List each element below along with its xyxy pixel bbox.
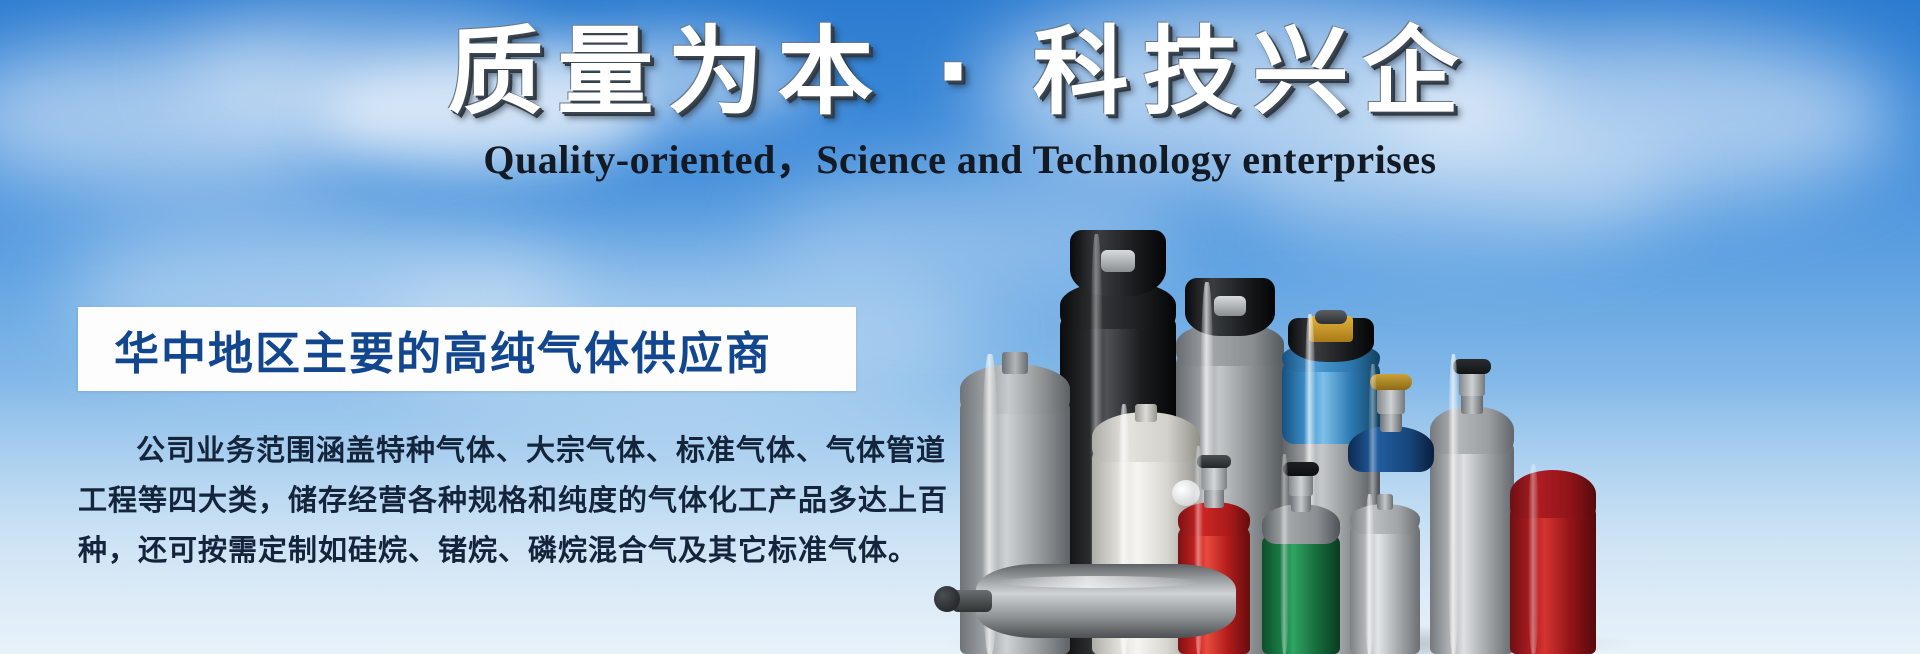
cylinder-body <box>1262 534 1340 654</box>
aluminium-cylinder <box>1430 354 1514 654</box>
cylinder-neck <box>1377 494 1393 510</box>
paragraph-line: 公司业务范围涵盖特种气体、大宗气体、标准气体、气体管道 <box>78 425 868 475</box>
cylinder-valve <box>1377 386 1405 414</box>
paragraph-line: 种，还可按需定制如硅烷、锗烷、磷烷混合气及其它标准气体。 <box>78 525 868 575</box>
cylinder-body <box>1430 440 1514 654</box>
cylinder-body <box>1350 522 1420 654</box>
pressure-gauge <box>1172 480 1200 506</box>
headline-text: 华中地区主要的高纯气体供应商 <box>78 317 772 382</box>
valve-handwheel <box>1197 455 1231 468</box>
cylinder-valve <box>1289 474 1313 496</box>
headline-plate: 华中地区主要的高纯气体供应商 <box>78 307 856 391</box>
lying-gray-cylinder <box>958 564 1248 638</box>
cylinder-body <box>976 564 1236 638</box>
valve-handwheel <box>1283 462 1319 476</box>
description-paragraph: 公司业务范围涵盖特种气体、大宗气体、标准气体、气体管道 工程等四大类，储存经营各… <box>78 425 868 575</box>
red-bottle <box>1510 464 1596 654</box>
cylinder-valve-knob <box>1101 250 1135 272</box>
cylinder-valve-knob <box>1214 296 1246 316</box>
green-small-cylinder <box>1262 454 1340 654</box>
cylinder-shoulder <box>1510 470 1596 518</box>
cylinder-body <box>1510 504 1596 654</box>
cylinder-shoulder <box>1348 426 1434 472</box>
aluminium-small-cylinder <box>1350 494 1420 654</box>
cylinder-neck <box>1002 352 1028 374</box>
paragraph-line: 工程等四大类，储存经营各种规格和纯度的气体化工产品多达上百 <box>78 475 868 525</box>
valve-handwheel <box>1315 310 1347 324</box>
valve-handwheel <box>1370 374 1412 390</box>
gas-cylinder-group <box>930 0 1920 654</box>
valve-handwheel <box>1453 359 1491 374</box>
promo-banner: 质量为本 · 科技兴企 Quality-oriented，Science and… <box>0 0 1920 654</box>
cylinder-neck <box>1135 404 1157 422</box>
valve-handwheel <box>934 586 960 612</box>
